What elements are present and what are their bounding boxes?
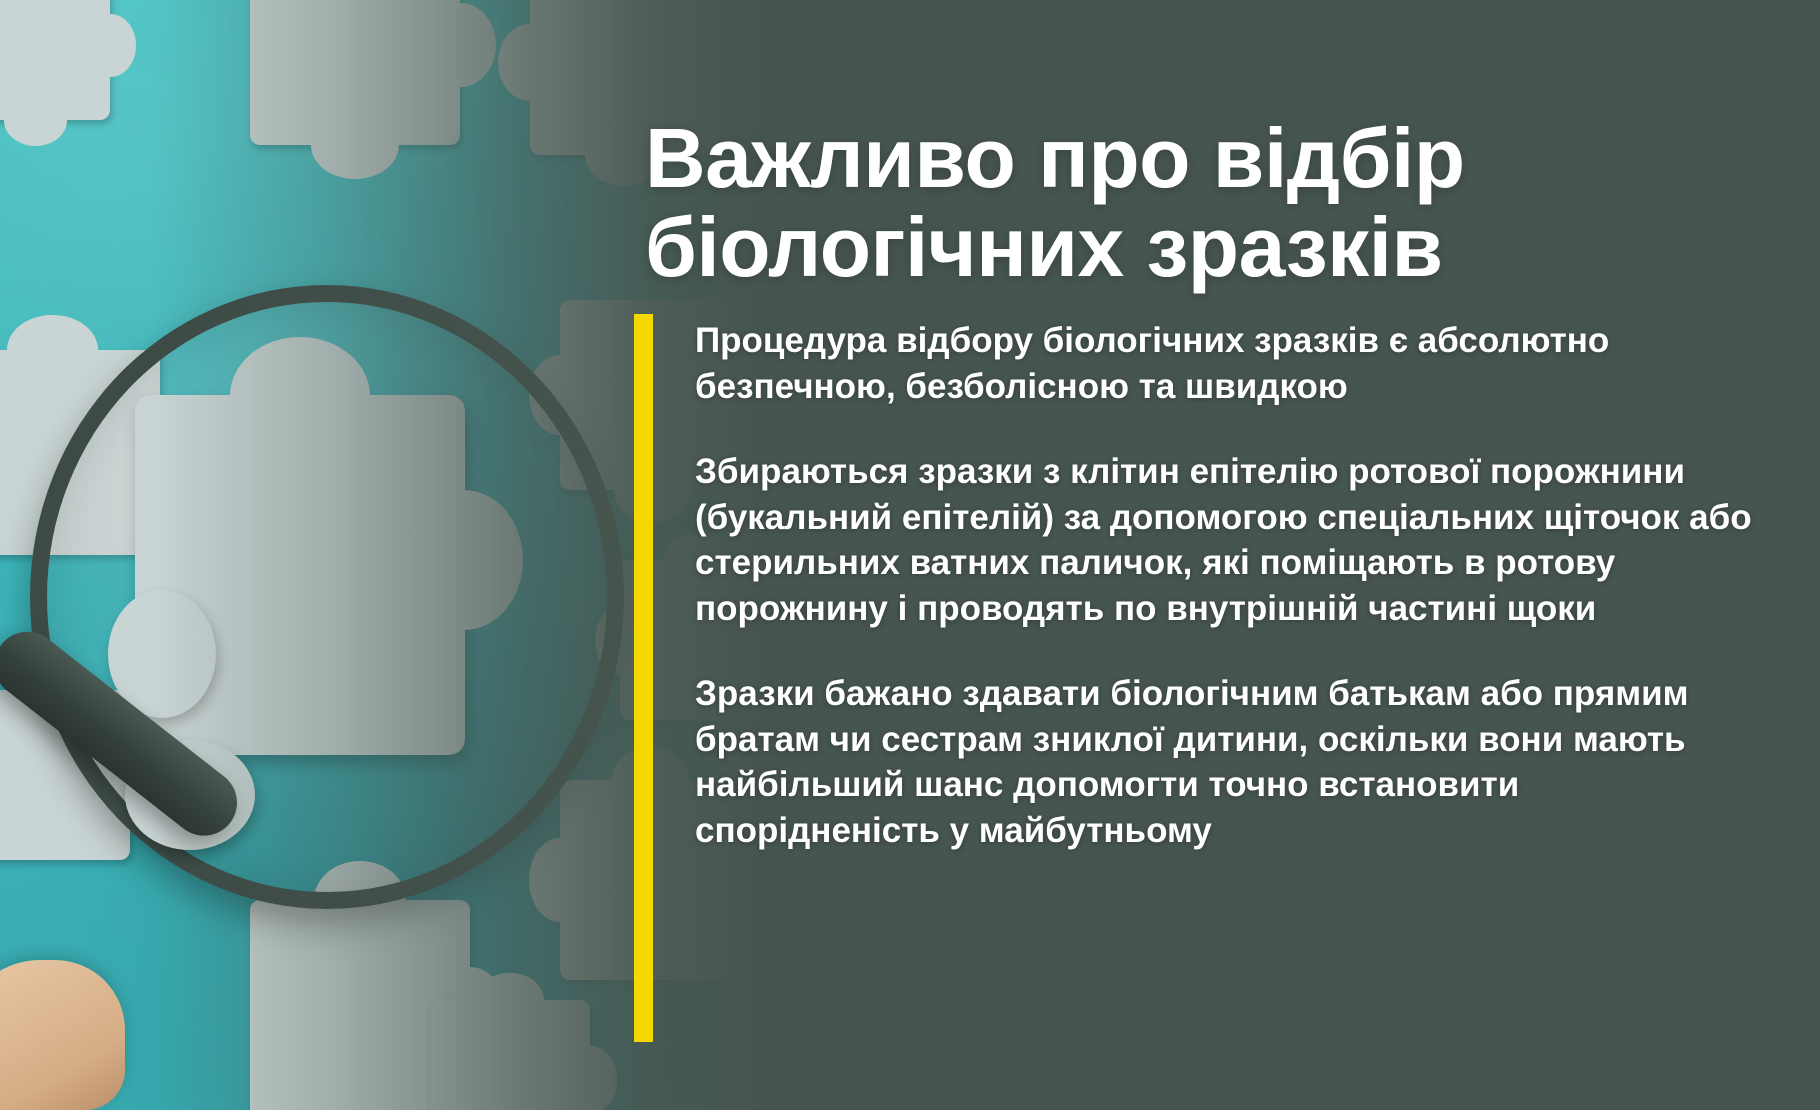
body-paragraph: Процедура відбору біологічних зразків є … [695,318,1755,409]
body-paragraph: Збираються зразки з клітин епітелію рото… [695,449,1755,631]
body-paragraph: Зразки бажано здавати біологічним батька… [695,671,1755,853]
slide-root: Важливо про відбір біологічних зразків П… [0,0,1820,1110]
page-title: Важливо про відбір біологічних зразків [645,114,1755,292]
accent-bar [634,314,653,1042]
body-text-block: Процедура відбору біологічних зразків є … [695,318,1755,853]
